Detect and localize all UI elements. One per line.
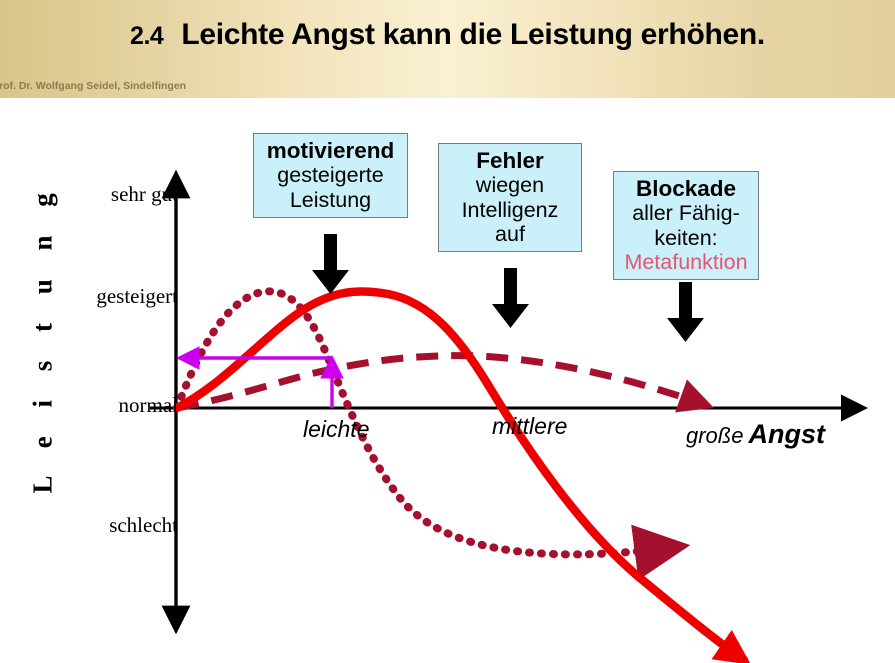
callout-line-accent: Metafunktion <box>620 250 752 274</box>
y-axis-title: L e i s t u n g <box>28 264 59 494</box>
y-tick-label-gesteigert: gesteigert <box>96 284 178 309</box>
page-title: 2.4Leichte Angst kann die Leistung erhöh… <box>0 18 895 52</box>
title-number: 2.4 <box>130 22 163 50</box>
optimum-marker <box>181 358 332 408</box>
callout-line: wiegen <box>445 173 575 197</box>
callout-arrow-fehler <box>492 268 529 328</box>
slide-header-band: 2.4Leichte Angst kann die Leistung erhöh… <box>0 0 895 98</box>
callout-box-fehler: Fehler wiegen Intelligenz auf <box>438 143 582 252</box>
callout-box-motivierend: motivierend gesteigerte Leistung <box>253 133 408 218</box>
y-tick-label-sehr-gut: sehr gut <box>111 182 178 207</box>
author-credit: Prof. Dr. Wolfgang Seidel, Sindelfingen <box>0 80 186 92</box>
x-axis-title-group: großeAngst <box>686 419 825 450</box>
callout-line: motivierend <box>260 138 401 163</box>
callout-line: Fehler <box>445 148 575 173</box>
x-axis-title: Angst <box>748 419 825 449</box>
callout-line: aller Fähig- <box>620 201 752 225</box>
y-tick-label-schlecht: schlecht <box>109 513 178 538</box>
callout-line: auf <box>445 222 575 246</box>
callout-line: keiten: <box>620 226 752 250</box>
x-tick-label-leichte: leichte <box>303 416 369 443</box>
title-text: Leichte Angst kann die Leistung erhöhen. <box>181 18 765 51</box>
callout-line: gesteigerte <box>260 163 401 187</box>
y-tick-label-normal: normal <box>119 393 178 418</box>
callout-line: Intelligenz <box>445 198 575 222</box>
callout-box-blockade: Blockade aller Fähig- keiten: Metafunkti… <box>613 171 759 280</box>
series-optimale-aktivierung <box>177 291 744 660</box>
callout-arrow-motivierend <box>312 234 349 294</box>
callout-line: Leistung <box>260 188 401 212</box>
callout-line: Blockade <box>620 176 752 201</box>
callout-arrow-blockade <box>667 282 704 342</box>
x-tick-label-grosse: große <box>686 423 743 448</box>
series-aengstliche-person <box>177 291 676 554</box>
series-robuste-person <box>177 356 706 408</box>
x-tick-label-mittlere: mittlere <box>492 413 567 440</box>
chart-canvas: sehr gut gesteigert normal schlecht L e … <box>0 98 895 663</box>
